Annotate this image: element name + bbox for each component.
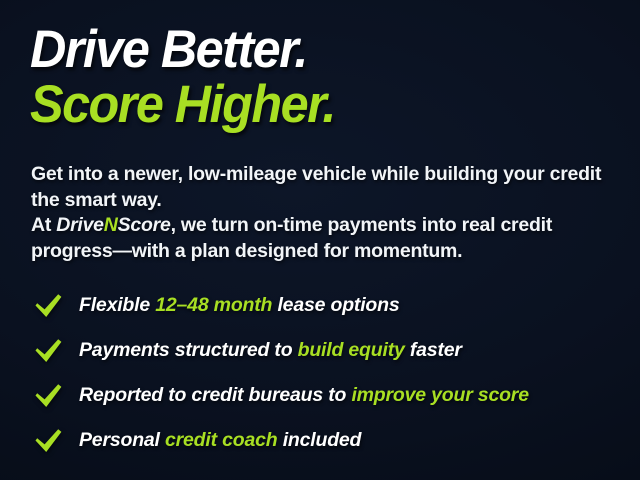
benefit-item: Reported to credit bureaus to improve yo… [30,373,630,418]
benefit-item: Personal credit coach included [30,418,630,463]
benefit-text-after: faster [405,339,462,361]
benefit-text-before: Personal [79,429,165,451]
benefit-text-before: Reported to credit bureaus to [79,384,351,406]
benefit-text-before: Flexible [79,294,155,316]
headline-block: Drive Better. Score Higher. [30,22,630,132]
benefit-text-highlight: build equity [298,339,405,361]
check-icon [30,293,79,319]
check-icon [30,428,79,454]
brand-name-letter-n: N [104,214,118,236]
benefit-text-highlight: improve your score [351,384,528,406]
benefits-list: Flexible 12–48 month lease options Payme… [30,283,630,463]
lead-paragraph-1: Get into a newer, low-mileage vehicle wh… [31,162,611,213]
brand-name-part-1: Drive [56,214,104,236]
benefit-text-after: included [277,429,361,451]
benefit-text: Payments structured to build equity fast… [79,339,462,362]
check-icon [30,383,79,409]
brand-name-part-2: Score [118,214,171,236]
lead-paragraph-2: At DriveNScore, we turn on-time payments… [31,213,611,264]
benefit-text-highlight: 12–48 month [155,294,272,316]
benefit-item: Flexible 12–48 month lease options [30,283,630,328]
headline-line-1: Drive Better. [30,22,600,77]
check-icon [30,338,79,364]
lead-paragraph-block: Get into a newer, low-mileage vehicle wh… [31,162,611,264]
lead-paragraph-2-prefix: At [31,214,56,236]
headline-line-2: Score Higher. [30,77,600,132]
benefit-item: Payments structured to build equity fast… [30,328,630,373]
benefit-text: Reported to credit bureaus to improve yo… [79,384,529,407]
benefit-text: Personal credit coach included [79,429,361,452]
benefit-text: Flexible 12–48 month lease options [79,294,400,317]
benefit-text-before: Payments structured to [79,339,298,361]
benefit-text-highlight: credit coach [165,429,277,451]
promo-slide: Drive Better. Score Higher. Get into a n… [0,0,640,480]
benefit-text-after: lease options [272,294,399,316]
